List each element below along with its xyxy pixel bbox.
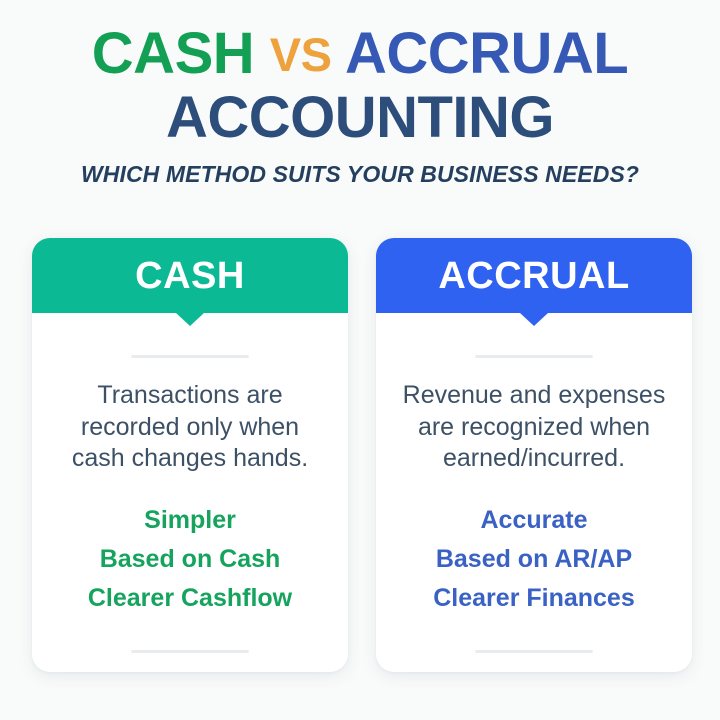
- comparison-cards: CASH Transactions are recorded only when…: [0, 238, 720, 678]
- card-accrual-benefit-3: Clearer Finances: [396, 579, 672, 618]
- card-cash-body: Transactions are recorded only when cash…: [32, 380, 348, 618]
- card-cash-divider-top: [131, 355, 249, 358]
- card-cash-header: CASH: [32, 238, 348, 313]
- card-accrual-benefits: Accurate Based on AR/AP Clearer Finances: [396, 501, 672, 618]
- card-cash-notch-icon: [176, 313, 204, 326]
- card-accrual-header: ACCRUAL: [376, 238, 692, 313]
- title-word-cash: CASH: [92, 21, 254, 86]
- card-accrual-header-label: ACCRUAL: [438, 257, 629, 295]
- card-cash-benefit-3: Clearer Cashflow: [52, 579, 328, 618]
- page-title-line-2: ACCOUNTING: [0, 88, 720, 148]
- title-word-accrual: ACCRUAL: [345, 21, 628, 86]
- title-word-vs: VS: [270, 28, 332, 81]
- infographic-page: CASH VS ACCRUAL ACCOUNTING WHICH METHOD …: [0, 0, 720, 720]
- title-block: CASH VS ACCRUAL ACCOUNTING WHICH METHOD …: [0, 24, 720, 188]
- card-accrual: ACCRUAL Revenue and expenses are recogni…: [376, 238, 692, 672]
- card-cash-benefit-1: Simpler: [52, 501, 328, 540]
- card-accrual-benefit-2: Based on AR/AP: [396, 540, 672, 579]
- card-cash: CASH Transactions are recorded only when…: [32, 238, 348, 672]
- card-cash-description: Transactions are recorded only when cash…: [52, 380, 328, 475]
- card-cash-benefits: Simpler Based on Cash Clearer Cashflow: [52, 501, 328, 618]
- card-accrual-divider-top: [475, 355, 593, 358]
- card-accrual-body: Revenue and expenses are recognized when…: [376, 380, 692, 618]
- page-title-line-1: CASH VS ACCRUAL: [0, 24, 720, 84]
- card-cash-header-label: CASH: [135, 257, 245, 295]
- card-accrual-divider-bottom: [475, 650, 593, 653]
- card-cash-benefit-2: Based on Cash: [52, 540, 328, 579]
- card-accrual-notch-icon: [520, 313, 548, 326]
- card-cash-divider-bottom: [131, 650, 249, 653]
- card-accrual-benefit-1: Accurate: [396, 501, 672, 540]
- page-subtitle: WHICH METHOD SUITS YOUR BUSINESS NEEDS?: [0, 161, 720, 188]
- card-accrual-description: Revenue and expenses are recognized when…: [396, 380, 672, 475]
